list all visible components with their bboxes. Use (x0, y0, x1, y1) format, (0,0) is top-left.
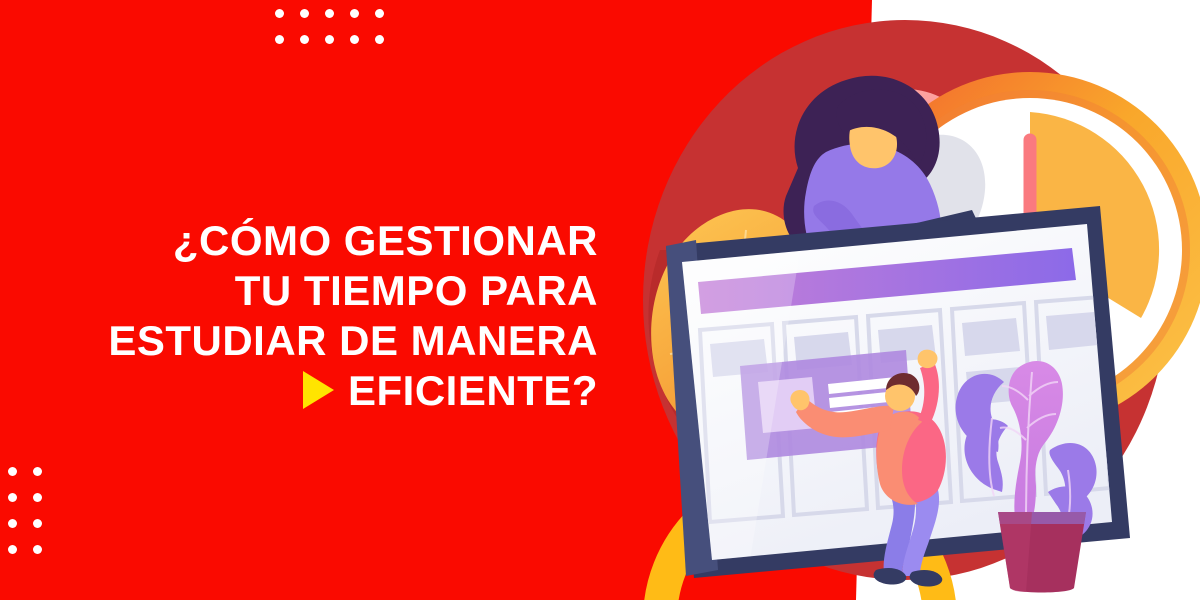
headline-line-3: ESTUDIAR DE MANERA (0, 316, 598, 366)
dot (33, 519, 42, 528)
illustration (600, 0, 1200, 600)
dot (33, 545, 42, 554)
dot (8, 493, 17, 502)
dot (375, 9, 384, 18)
dot (300, 35, 309, 44)
banner-root: ¿CÓMO GESTIONAR TU TIEMPO PARA ESTUDIAR … (0, 0, 1200, 600)
dot (275, 9, 284, 18)
dot-grid-bottom-left (8, 467, 58, 571)
dot (375, 35, 384, 44)
dot (325, 9, 334, 18)
dot (8, 545, 17, 554)
dot (325, 35, 334, 44)
dot-grid-top (275, 9, 400, 61)
dot (300, 9, 309, 18)
headline-line-1: ¿CÓMO GESTIONAR (0, 216, 598, 266)
dot (350, 35, 359, 44)
dot (33, 467, 42, 476)
dot (275, 35, 284, 44)
headline-line-2: TU TIEMPO PARA (0, 266, 598, 316)
dot (8, 467, 17, 476)
headline-line-4: EFICIENTE? (348, 366, 598, 416)
play-triangle-icon (303, 371, 334, 409)
headline-line-4-wrapper: EFICIENTE? (0, 366, 598, 416)
dot (33, 493, 42, 502)
dot (8, 519, 17, 528)
dot (350, 9, 359, 18)
headline: ¿CÓMO GESTIONAR TU TIEMPO PARA ESTUDIAR … (0, 216, 620, 416)
